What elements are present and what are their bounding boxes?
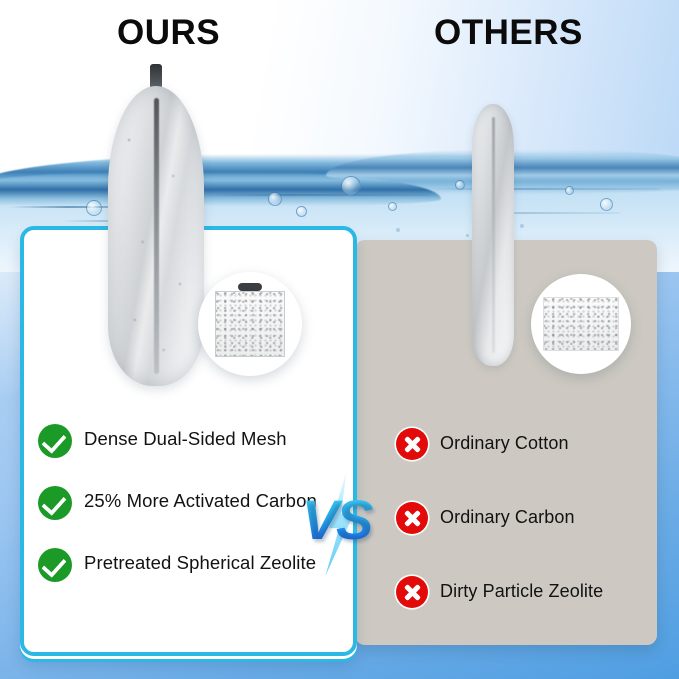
comparison-infographic: OURS OTHERS Dense Dual-Sided Mesh 25% Mo…	[0, 0, 679, 679]
feature-label: 25% More Activated Carbon	[84, 486, 317, 513]
water-bubble	[86, 200, 102, 216]
water-bubble	[296, 206, 307, 217]
list-item: Dirty Particle Zeolite	[396, 576, 651, 608]
heading-others: OTHERS	[434, 13, 583, 53]
feature-label: Pretreated Spherical Zeolite	[84, 548, 316, 575]
water-bubble	[268, 192, 282, 206]
product-image-others	[472, 104, 514, 366]
water-droplet	[520, 224, 524, 228]
x-circle-icon	[396, 502, 428, 534]
check-circle-icon	[38, 424, 72, 458]
product-image-ours	[108, 86, 204, 386]
vs-badge: VS	[288, 478, 384, 570]
feature-label: Dense Dual-Sided Mesh	[84, 424, 287, 451]
feature-label: Ordinary Cotton	[440, 433, 569, 455]
water-droplet	[396, 228, 400, 232]
vs-label: VS	[288, 492, 384, 548]
water-streak	[210, 194, 430, 196]
closeup-inset-ours	[198, 272, 302, 376]
closeup-inset-others	[531, 274, 631, 374]
list-item: Ordinary Cotton	[396, 428, 651, 460]
water-droplet	[466, 234, 469, 237]
cotton-stick-seam	[492, 117, 495, 353]
heading-ours: OURS	[117, 13, 220, 53]
list-item: Dense Dual-Sided Mesh	[38, 424, 338, 458]
water-bubble	[388, 202, 397, 211]
check-circle-icon	[38, 548, 72, 582]
mesh-bag-seam	[154, 98, 159, 374]
x-circle-icon	[396, 428, 428, 460]
mesh-swatch	[215, 291, 285, 357]
swatch-clip-icon	[238, 283, 262, 291]
list-item: Ordinary Carbon	[396, 502, 651, 534]
water-streak	[430, 188, 660, 190]
carbon-swatch	[543, 297, 619, 351]
feature-label: Dirty Particle Zeolite	[440, 581, 603, 603]
water-bubble	[600, 198, 613, 211]
water-bubble	[565, 186, 574, 195]
others-feature-list: Ordinary Cotton Ordinary Carbon Dirty Pa…	[396, 428, 651, 650]
x-circle-icon	[396, 576, 428, 608]
check-circle-icon	[38, 486, 72, 520]
water-bubble	[341, 176, 361, 196]
water-bubble	[455, 180, 465, 190]
feature-label: Ordinary Carbon	[440, 507, 575, 529]
